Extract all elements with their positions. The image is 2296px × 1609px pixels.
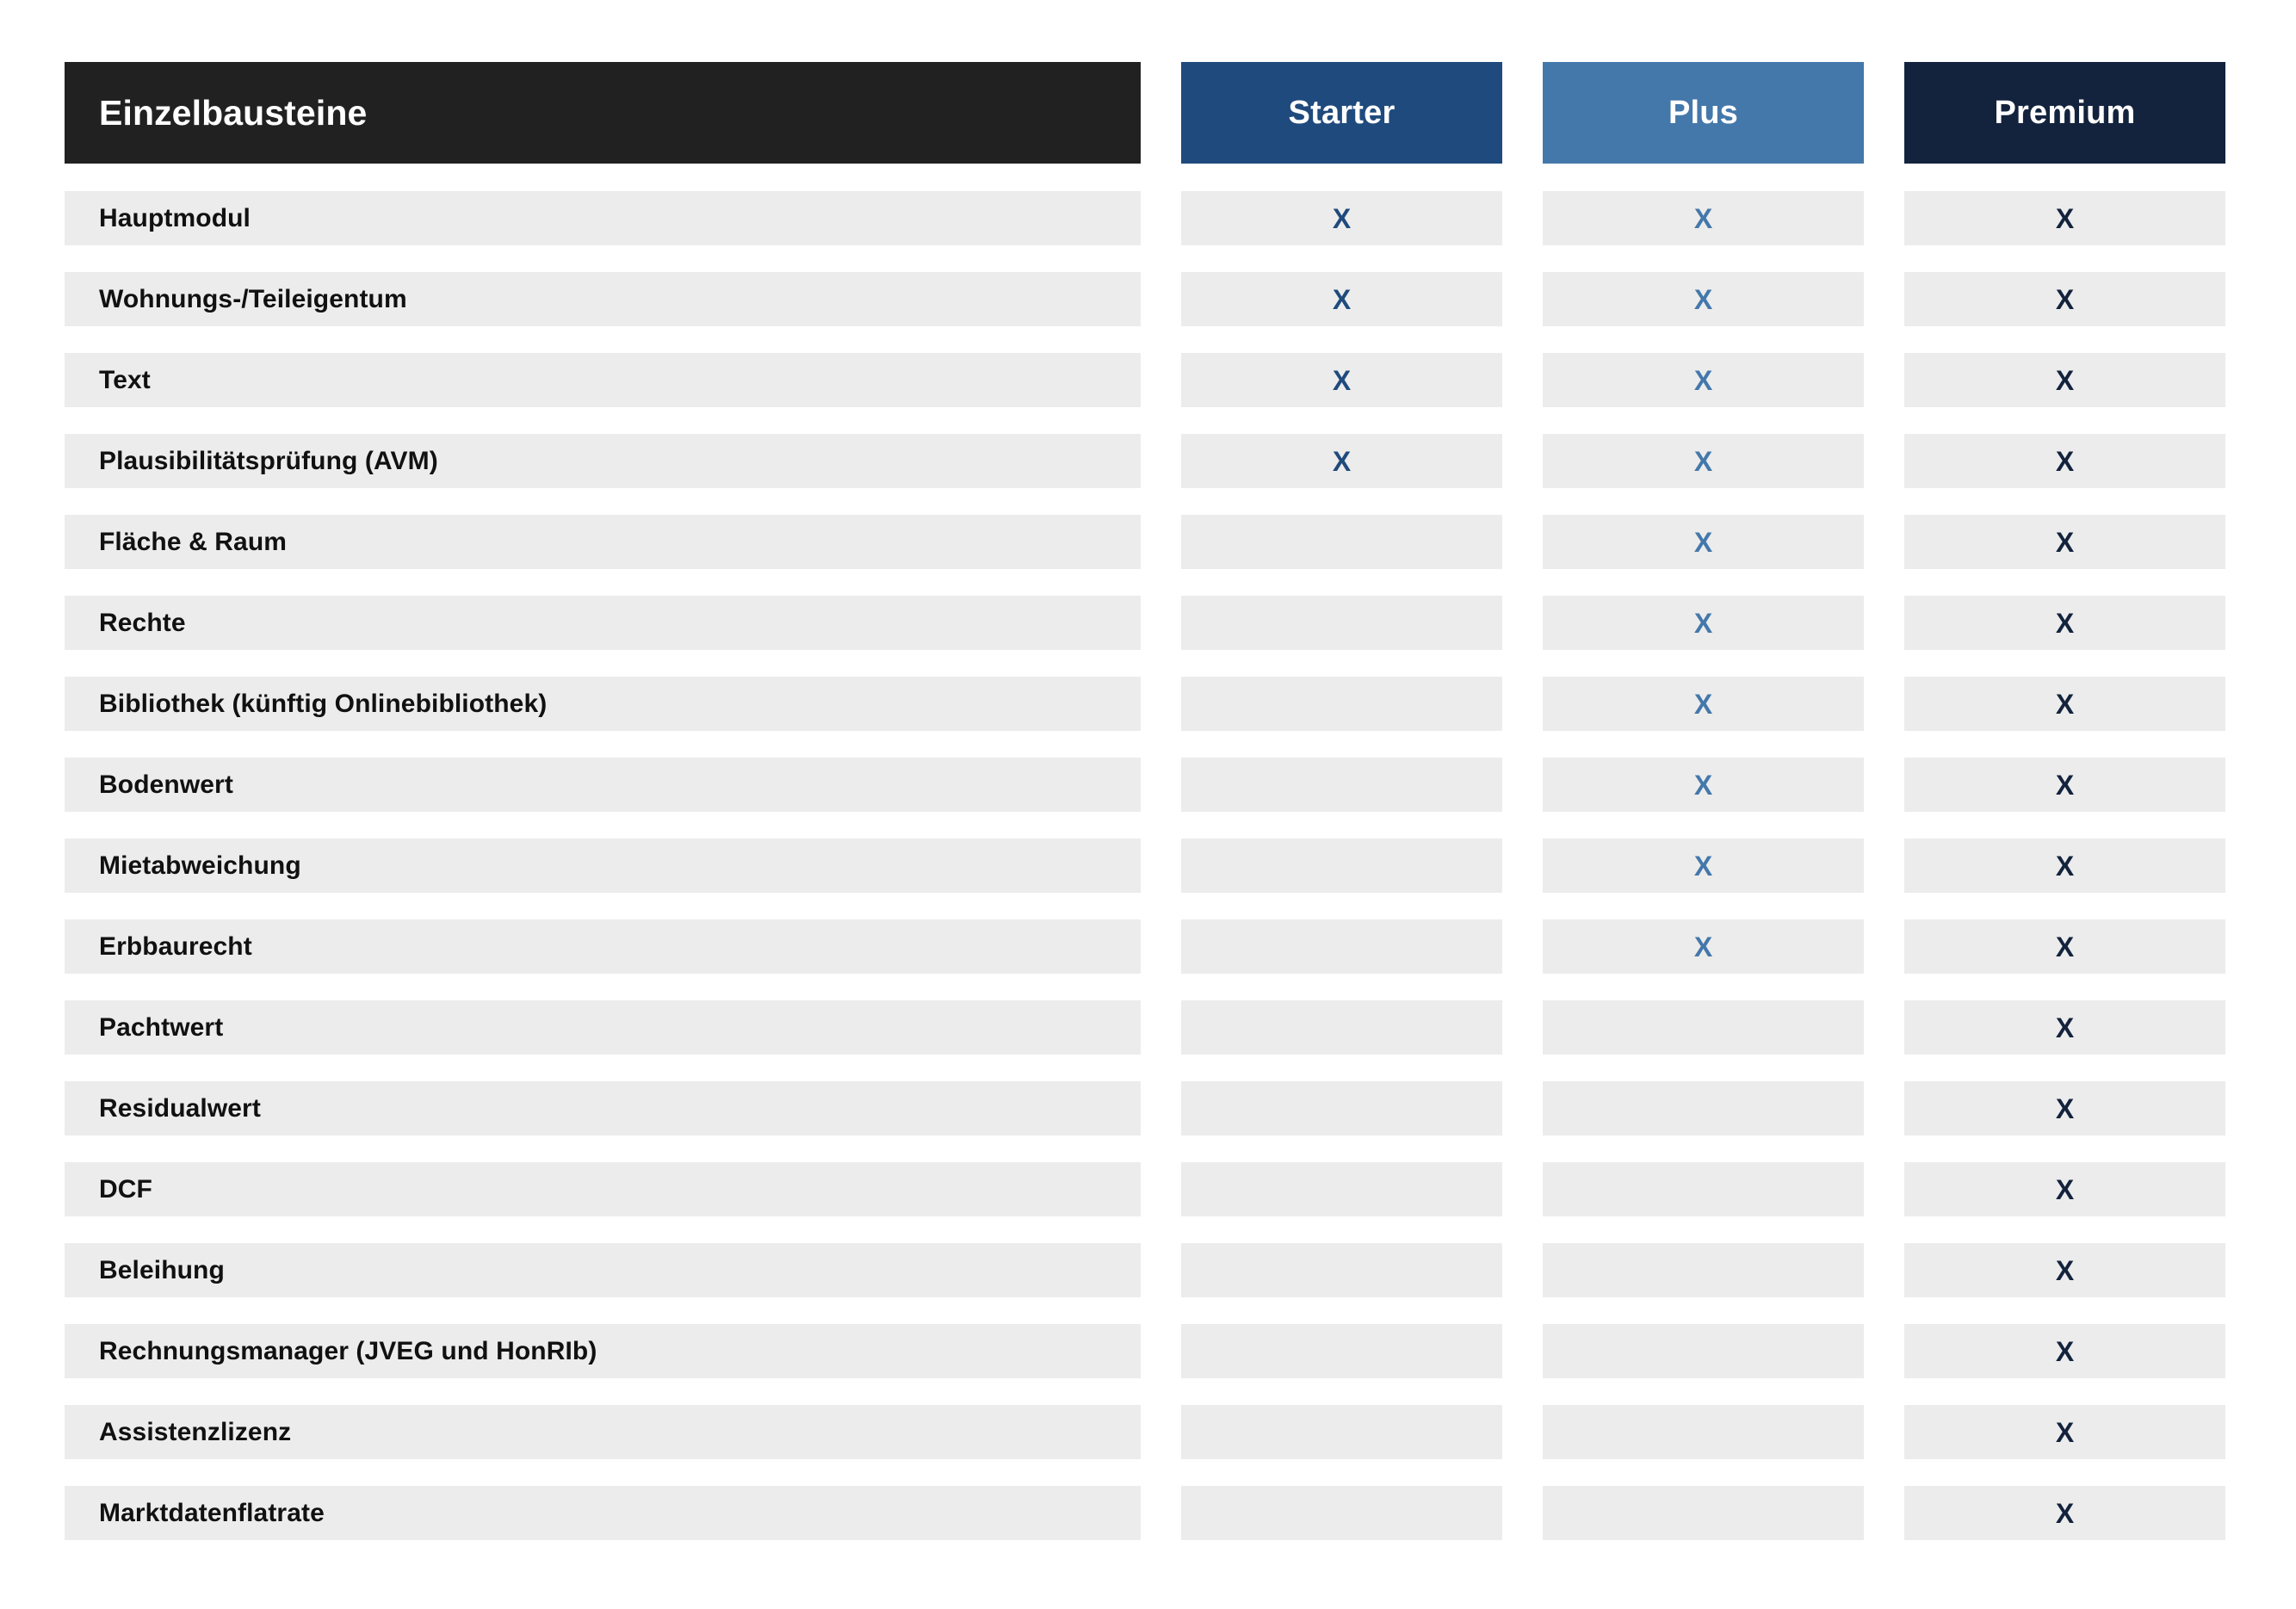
feature-label-cell: Plausibilitätsprüfung (AVM): [65, 434, 1141, 488]
feature-cell-plus: X: [1543, 596, 1864, 650]
feature-cell-premium: X: [1904, 515, 2225, 569]
table-body: HauptmodulXXXWohnungs-/TeileigentumXXXTe…: [65, 191, 2233, 1540]
included-x-mark: X: [1694, 690, 1712, 718]
row-gap: [1502, 1324, 1543, 1378]
table-title-cell: Einzelbausteine: [65, 62, 1141, 164]
table-row: BodenwertXX: [65, 758, 2233, 812]
feature-cell-starter: [1181, 839, 1502, 893]
table-row: AssistenzlizenzX: [65, 1405, 2233, 1459]
row-gap: [1864, 596, 1904, 650]
feature-label-cell: Text: [65, 353, 1141, 407]
feature-label-cell: Mietabweichung: [65, 839, 1141, 893]
feature-label: Erbbaurecht: [99, 932, 252, 962]
feature-cell-premium: X: [1904, 839, 2225, 893]
row-gap: [1864, 839, 1904, 893]
feature-label: Assistenzlizenz: [99, 1418, 291, 1447]
column-header-premium[interactable]: Premium: [1904, 62, 2225, 164]
included-x-mark: X: [1694, 205, 1712, 232]
included-x-mark: X: [1694, 448, 1712, 475]
row-gap: [1864, 1324, 1904, 1378]
included-x-mark: X: [2056, 448, 2074, 475]
included-x-mark: X: [2056, 1014, 2074, 1042]
feature-label: Bodenwert: [99, 770, 233, 800]
row-gap: [1141, 1405, 1181, 1459]
feature-label: Plausibilitätsprüfung (AVM): [99, 447, 438, 476]
header-gap: [1864, 62, 1904, 164]
feature-cell-premium: X: [1904, 434, 2225, 488]
feature-cell-plus: [1543, 1405, 1864, 1459]
feature-cell-starter: [1181, 677, 1502, 731]
row-gap: [1141, 515, 1181, 569]
row-gap: [1502, 919, 1543, 974]
feature-label: Text: [99, 366, 151, 395]
feature-label-cell: DCF: [65, 1162, 1141, 1216]
feature-cell-starter: [1181, 1162, 1502, 1216]
feature-label: Marktdatenflatrate: [99, 1499, 325, 1528]
feature-cell-plus: X: [1543, 515, 1864, 569]
included-x-mark: X: [1333, 286, 1351, 313]
row-gap: [1864, 434, 1904, 488]
included-x-mark: X: [1694, 771, 1712, 799]
table-row: Plausibilitätsprüfung (AVM)XXX: [65, 434, 2233, 488]
table-row: DCFX: [65, 1162, 2233, 1216]
row-gap: [1864, 758, 1904, 812]
feature-label-cell: Beleihung: [65, 1243, 1141, 1297]
feature-cell-starter: X: [1181, 353, 1502, 407]
feature-cell-plus: X: [1543, 272, 1864, 326]
row-gap: [1141, 191, 1181, 245]
feature-cell-starter: [1181, 758, 1502, 812]
feature-label-cell: Hauptmodul: [65, 191, 1141, 245]
row-gap: [1864, 1162, 1904, 1216]
feature-cell-starter: [1181, 1405, 1502, 1459]
row-gap: [1502, 515, 1543, 569]
row-gap: [1502, 1405, 1543, 1459]
feature-label: Mietabweichung: [99, 851, 301, 881]
row-gap: [1864, 191, 1904, 245]
feature-cell-plus: X: [1543, 191, 1864, 245]
row-gap: [1141, 353, 1181, 407]
table-row: MietabweichungXX: [65, 839, 2233, 893]
row-gap: [1864, 353, 1904, 407]
feature-label-cell: Assistenzlizenz: [65, 1405, 1141, 1459]
feature-cell-starter: [1181, 1243, 1502, 1297]
included-x-mark: X: [1333, 205, 1351, 232]
feature-cell-plus: X: [1543, 353, 1864, 407]
feature-label: DCF: [99, 1175, 152, 1204]
included-x-mark: X: [2056, 286, 2074, 313]
feature-label-cell: Pachtwert: [65, 1000, 1141, 1055]
included-x-mark: X: [2056, 933, 2074, 961]
feature-cell-starter: X: [1181, 191, 1502, 245]
feature-cell-starter: [1181, 1000, 1502, 1055]
row-gap: [1864, 272, 1904, 326]
feature-cell-starter: X: [1181, 434, 1502, 488]
feature-label-cell: Bibliothek (künftig Onlinebibliothek): [65, 677, 1141, 731]
row-gap: [1864, 515, 1904, 569]
feature-label-cell: Marktdatenflatrate: [65, 1486, 1141, 1540]
feature-label-cell: Bodenwert: [65, 758, 1141, 812]
included-x-mark: X: [1694, 367, 1712, 394]
feature-cell-starter: [1181, 1324, 1502, 1378]
feature-cell-starter: [1181, 919, 1502, 974]
feature-cell-plus: X: [1543, 434, 1864, 488]
feature-cell-plus: [1543, 1486, 1864, 1540]
feature-cell-starter: X: [1181, 272, 1502, 326]
feature-cell-premium: X: [1904, 191, 2225, 245]
feature-label: Residualwert: [99, 1094, 261, 1123]
row-gap: [1141, 919, 1181, 974]
feature-label: Wohnungs-/Teileigentum: [99, 285, 407, 314]
row-gap: [1502, 191, 1543, 245]
included-x-mark: X: [2056, 852, 2074, 880]
feature-cell-plus: [1543, 1324, 1864, 1378]
feature-cell-premium: X: [1904, 1243, 2225, 1297]
included-x-mark: X: [2056, 367, 2074, 394]
row-gap: [1864, 919, 1904, 974]
feature-cell-plus: X: [1543, 758, 1864, 812]
feature-label: Rechte: [99, 609, 186, 638]
row-gap: [1141, 1162, 1181, 1216]
feature-cell-plus: [1543, 1243, 1864, 1297]
feature-cell-premium: X: [1904, 272, 2225, 326]
included-x-mark: X: [2056, 205, 2074, 232]
feature-cell-premium: X: [1904, 1486, 2225, 1540]
feature-cell-starter: [1181, 515, 1502, 569]
feature-cell-premium: X: [1904, 1081, 2225, 1136]
table-row: BeleihungX: [65, 1243, 2233, 1297]
row-gap: [1502, 596, 1543, 650]
row-gap: [1864, 677, 1904, 731]
included-x-mark: X: [1694, 610, 1712, 637]
feature-cell-premium: X: [1904, 1000, 2225, 1055]
included-x-mark: X: [1694, 852, 1712, 880]
included-x-mark: X: [2056, 529, 2074, 556]
included-x-mark: X: [1333, 448, 1351, 475]
feature-cell-premium: X: [1904, 919, 2225, 974]
feature-label-cell: Wohnungs-/Teileigentum: [65, 272, 1141, 326]
column-header-plus-label: Plus: [1668, 95, 1738, 132]
row-gap: [1864, 1243, 1904, 1297]
row-gap: [1864, 1486, 1904, 1540]
column-header-plus[interactable]: Plus: [1543, 62, 1864, 164]
feature-label: Bibliothek (künftig Onlinebibliothek): [99, 690, 547, 719]
column-header-starter[interactable]: Starter: [1181, 62, 1502, 164]
feature-cell-plus: X: [1543, 839, 1864, 893]
included-x-mark: X: [2056, 1176, 2074, 1204]
row-gap: [1502, 1162, 1543, 1216]
feature-cell-starter: [1181, 596, 1502, 650]
row-gap: [1864, 1405, 1904, 1459]
feature-cell-premium: X: [1904, 596, 2225, 650]
feature-label-cell: Rechte: [65, 596, 1141, 650]
feature-label: Beleihung: [99, 1256, 225, 1285]
row-gap: [1141, 272, 1181, 326]
feature-label: Rechnungsmanager (JVEG und HonRIb): [99, 1337, 597, 1366]
feature-label-cell: Residualwert: [65, 1081, 1141, 1136]
row-gap: [1502, 434, 1543, 488]
column-header-starter-label: Starter: [1289, 95, 1396, 132]
table-row: PachtwertX: [65, 1000, 2233, 1055]
table-row: Rechnungsmanager (JVEG und HonRIb)X: [65, 1324, 2233, 1378]
feature-comparison-table: Einzelbausteine Starter Plus Premium Hau…: [65, 62, 2233, 1567]
feature-label-cell: Rechnungsmanager (JVEG und HonRIb): [65, 1324, 1141, 1378]
included-x-mark: X: [1333, 367, 1351, 394]
included-x-mark: X: [2056, 690, 2074, 718]
row-gap: [1502, 1243, 1543, 1297]
row-gap: [1141, 839, 1181, 893]
table-row: HauptmodulXXX: [65, 191, 2233, 245]
feature-cell-premium: X: [1904, 353, 2225, 407]
included-x-mark: X: [2056, 1257, 2074, 1284]
included-x-mark: X: [2056, 1095, 2074, 1123]
feature-cell-premium: X: [1904, 1405, 2225, 1459]
feature-label: Fläche & Raum: [99, 528, 287, 557]
row-gap: [1502, 1000, 1543, 1055]
row-gap: [1502, 839, 1543, 893]
table-row: Bibliothek (künftig Onlinebibliothek)XX: [65, 677, 2233, 731]
included-x-mark: X: [2056, 1500, 2074, 1527]
table-row: TextXXX: [65, 353, 2233, 407]
table-row: RechteXX: [65, 596, 2233, 650]
feature-label-cell: Erbbaurecht: [65, 919, 1141, 974]
row-gap: [1141, 677, 1181, 731]
feature-cell-starter: [1181, 1081, 1502, 1136]
feature-label: Hauptmodul: [99, 204, 251, 233]
feature-cell-premium: X: [1904, 758, 2225, 812]
row-gap: [1502, 272, 1543, 326]
row-gap: [1502, 353, 1543, 407]
row-gap: [1864, 1081, 1904, 1136]
row-gap: [1502, 1486, 1543, 1540]
row-gap: [1502, 1081, 1543, 1136]
feature-label-cell: Fläche & Raum: [65, 515, 1141, 569]
feature-cell-premium: X: [1904, 677, 2225, 731]
column-header-premium-label: Premium: [1994, 95, 2135, 132]
row-gap: [1141, 1000, 1181, 1055]
included-x-mark: X: [1694, 529, 1712, 556]
feature-cell-starter: [1181, 1486, 1502, 1540]
row-gap: [1141, 434, 1181, 488]
row-gap: [1141, 1081, 1181, 1136]
included-x-mark: X: [1694, 933, 1712, 961]
feature-cell-plus: [1543, 1162, 1864, 1216]
header-gap: [1502, 62, 1543, 164]
feature-cell-premium: X: [1904, 1324, 2225, 1378]
table-row: Fläche & RaumXX: [65, 515, 2233, 569]
feature-cell-plus: [1543, 1081, 1864, 1136]
included-x-mark: X: [2056, 1338, 2074, 1365]
row-gap: [1141, 758, 1181, 812]
row-gap: [1502, 758, 1543, 812]
table-row: ErbbaurechtXX: [65, 919, 2233, 974]
table-row: Wohnungs-/TeileigentumXXX: [65, 272, 2233, 326]
table-header-row: Einzelbausteine Starter Plus Premium: [65, 62, 2233, 164]
feature-cell-plus: X: [1543, 677, 1864, 731]
included-x-mark: X: [1694, 286, 1712, 313]
page-title: Einzelbausteine: [99, 93, 367, 133]
row-gap: [1141, 596, 1181, 650]
included-x-mark: X: [2056, 610, 2074, 637]
table-row: ResidualwertX: [65, 1081, 2233, 1136]
row-gap: [1141, 1324, 1181, 1378]
included-x-mark: X: [2056, 1419, 2074, 1446]
header-gap: [1141, 62, 1181, 164]
row-gap: [1864, 1000, 1904, 1055]
row-gap: [1502, 677, 1543, 731]
feature-cell-premium: X: [1904, 1162, 2225, 1216]
row-gap: [1141, 1486, 1181, 1540]
feature-cell-plus: [1543, 1000, 1864, 1055]
feature-cell-plus: X: [1543, 919, 1864, 974]
included-x-mark: X: [2056, 771, 2074, 799]
row-gap: [1141, 1243, 1181, 1297]
feature-label: Pachtwert: [99, 1013, 223, 1043]
table-row: MarktdatenflatrateX: [65, 1486, 2233, 1540]
